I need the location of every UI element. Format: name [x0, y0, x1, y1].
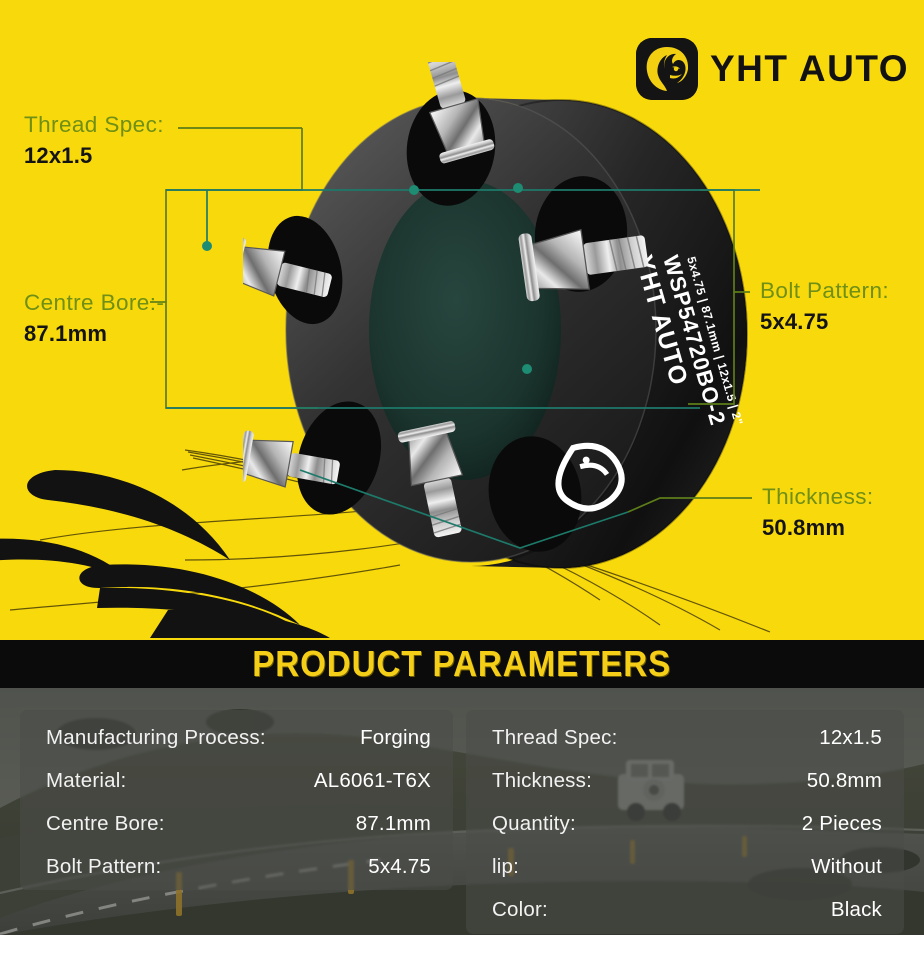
- callout-bolt-pattern: Bolt Pattern: 5x4.75: [760, 278, 889, 335]
- table-row: Bolt Pattern: 5x4.75: [46, 855, 431, 879]
- param-label: Bolt Pattern:: [46, 855, 161, 879]
- table-row: Thickness: 50.8mm: [492, 769, 882, 793]
- callout-centre-bore: Centre Bore:- 87.1mm: [24, 290, 164, 347]
- param-value: 50.8mm: [807, 769, 882, 793]
- param-value: Black: [831, 898, 882, 922]
- brand-logo: YHT AUTO: [636, 38, 909, 100]
- param-value: 87.1mm: [356, 812, 431, 836]
- bottom-white-strip: [0, 935, 924, 960]
- lion-head-icon: [636, 38, 698, 100]
- callout-bolt-pattern-value: 5x4.75: [760, 308, 889, 336]
- parameters-panel-left: Manufacturing Process: Forging Material:…: [20, 710, 453, 890]
- table-row: lip: Without: [492, 855, 882, 879]
- param-label: Quantity:: [492, 812, 576, 836]
- callout-thread-spec-value: 12x1.5: [24, 142, 164, 170]
- param-value: 12x1.5: [819, 726, 882, 750]
- hero-section: YHT AUTO WSP54720BO-2 5x4.75 | 87.1mm | …: [0, 0, 924, 640]
- brand-wordmark: YHT AUTO: [710, 48, 909, 90]
- param-label: Manufacturing Process:: [46, 726, 266, 750]
- table-row: Centre Bore: 87.1mm: [46, 812, 431, 836]
- callout-bolt-pattern-title: Bolt Pattern:: [760, 278, 889, 304]
- product-parameters-banner: PRODUCT PARAMETERS: [0, 640, 924, 688]
- callout-thread-spec: Thread Spec: 12x1.5: [24, 112, 164, 169]
- param-label: lip:: [492, 855, 519, 879]
- table-row: Manufacturing Process: Forging: [46, 726, 431, 750]
- table-row: Color: Black: [492, 898, 882, 922]
- param-label: Thread Spec:: [492, 726, 617, 750]
- callout-thickness: Thickness: 50.8mm: [762, 484, 874, 541]
- callout-thickness-value: 50.8mm: [762, 514, 874, 542]
- callout-thickness-title: Thickness:: [762, 484, 874, 510]
- param-value: AL6061-T6X: [314, 769, 431, 793]
- product-infographic: YHT AUTO WSP54720BO-2 5x4.75 | 87.1mm | …: [0, 0, 924, 960]
- param-label: Material:: [46, 769, 126, 793]
- callout-centre-bore-value: 87.1mm: [24, 320, 164, 348]
- param-value: Forging: [360, 726, 431, 750]
- callout-thread-spec-title: Thread Spec:: [24, 112, 164, 138]
- param-label: Color:: [492, 898, 548, 922]
- banner-title: PRODUCT PARAMETERS: [253, 643, 672, 685]
- table-row: Thread Spec: 12x1.5: [492, 726, 882, 750]
- parameters-panel-right: Thread Spec: 12x1.5 Thickness: 50.8mm Qu…: [466, 710, 904, 934]
- param-value: 2 Pieces: [802, 812, 882, 836]
- param-label: Centre Bore:: [46, 812, 165, 836]
- callout-centre-bore-title: Centre Bore:-: [24, 290, 164, 316]
- parameters-footer: Manufacturing Process: Forging Material:…: [0, 688, 924, 935]
- param-label: Thickness:: [492, 769, 592, 793]
- param-value: 5x4.75: [368, 855, 431, 879]
- table-row: Material: AL6061-T6X: [46, 769, 431, 793]
- param-value: Without: [811, 855, 882, 879]
- table-row: Quantity: 2 Pieces: [492, 812, 882, 836]
